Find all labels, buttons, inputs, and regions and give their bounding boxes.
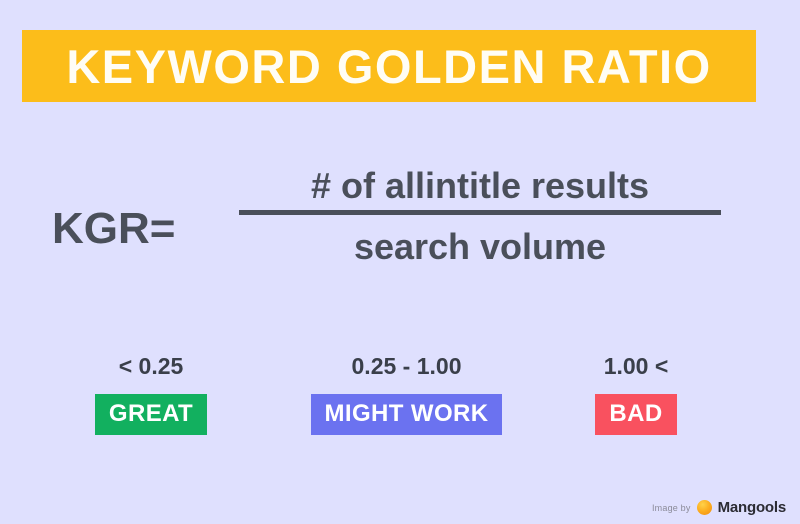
status-badge-great: GREAT [95,394,207,435]
title-banner: KEYWORD GOLDEN RATIO [22,30,756,102]
attribution-footer: Image by Mangools [652,499,786,516]
kgr-scale-row: < 0.25 GREAT 0.25 - 1.00 MIGHT WORK 1.00… [0,355,800,445]
brand-name: Mangools [718,499,786,516]
scale-range-might-work: 0.25 - 1.00 [285,355,528,378]
status-badge-might-work: MIGHT WORK [311,394,503,435]
formula-fraction: # of allintitle results search volume [238,168,722,265]
scale-range-bad: 1.00 < [546,355,726,378]
attribution-prefix: Image by [652,503,691,513]
formula-denominator: search volume [238,215,722,265]
formula-label: KGR= [52,204,175,254]
formula-numerator: # of allintitle results [238,168,722,210]
kgr-formula: KGR= # of allintitle results search volu… [0,168,800,308]
page-title: KEYWORD GOLDEN RATIO [66,43,711,90]
infographic-canvas: KEYWORD GOLDEN RATIO KGR= # of allintitl… [0,0,800,524]
status-badge-bad: BAD [595,394,676,435]
mangools-drop-icon [697,500,712,515]
scale-range-great: < 0.25 [36,355,266,378]
scale-column-bad: 1.00 < BAD [546,355,726,435]
scale-column-might-work: 0.25 - 1.00 MIGHT WORK [285,355,528,435]
scale-column-great: < 0.25 GREAT [36,355,266,435]
